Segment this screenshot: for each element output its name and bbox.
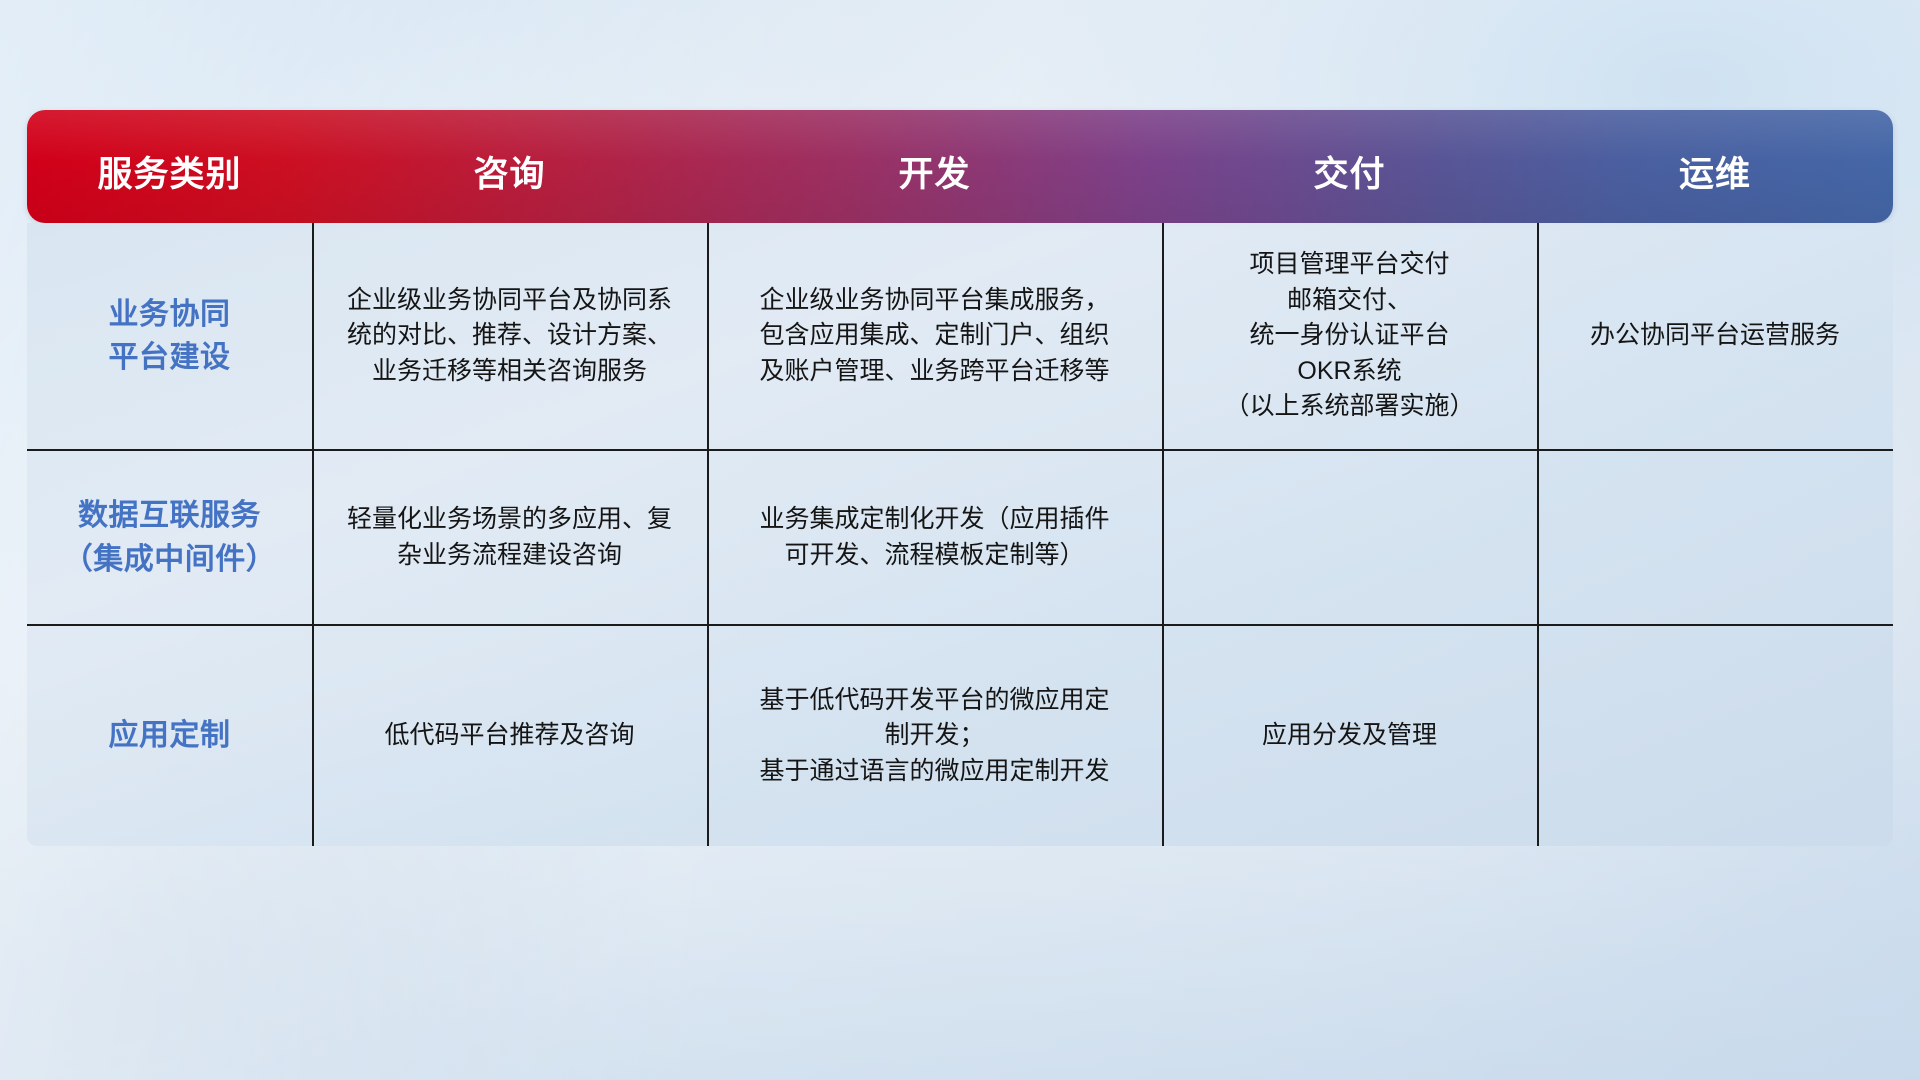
- column-header-consulting: 咨询: [312, 146, 707, 223]
- cell-delivery-row1: 项目管理平台交付 邮箱交付、 统一身份认证平台 OKR系统 （以上系统部署实施）: [1162, 223, 1537, 449]
- column-header-delivery: 交付: [1162, 146, 1537, 223]
- cell-operations-row1: 办公协同平台运营服务: [1537, 223, 1893, 449]
- cell-consulting-row2: 轻量化业务场景的多应用、复 杂业务流程建设咨询: [312, 451, 707, 624]
- table-row: 应用定制 低代码平台推荐及咨询 基于低代码开发平台的微应用定 制开发； 基于通过…: [27, 626, 1893, 846]
- cell-delivery-row2: [1162, 451, 1537, 624]
- cell-development-row2: 业务集成定制化开发（应用插件 可开发、流程模板定制等）: [707, 451, 1162, 624]
- cell-operations-row3: [1537, 626, 1893, 846]
- cell-consulting-row1: 企业级业务协同平台及协同系 统的对比、推荐、设计方案、 业务迁移等相关咨询服务: [312, 223, 707, 449]
- table-header-row: 服务类别 咨询 开发 交付 运维: [27, 110, 1893, 223]
- table-body: 业务协同 平台建设 企业级业务协同平台及协同系 统的对比、推荐、设计方案、 业务…: [27, 223, 1893, 846]
- cell-category-row3: 应用定制: [27, 626, 312, 846]
- cell-category-row1: 业务协同 平台建设: [27, 223, 312, 449]
- cell-development-row3: 基于低代码开发平台的微应用定 制开发； 基于通过语言的微应用定制开发: [707, 626, 1162, 846]
- table-row: 业务协同 平台建设 企业级业务协同平台及协同系 统的对比、推荐、设计方案、 业务…: [27, 223, 1893, 451]
- cell-development-row1: 企业级业务协同平台集成服务， 包含应用集成、定制门户、组织 及账户管理、业务跨平…: [707, 223, 1162, 449]
- column-header-operations: 运维: [1537, 146, 1893, 223]
- cell-operations-row2: [1537, 451, 1893, 624]
- column-header-development: 开发: [707, 146, 1162, 223]
- cell-delivery-row3: 应用分发及管理: [1162, 626, 1537, 846]
- column-header-category: 服务类别: [27, 146, 312, 223]
- table-row: 数据互联服务 （集成中间件） 轻量化业务场景的多应用、复 杂业务流程建设咨询 业…: [27, 451, 1893, 626]
- cell-consulting-row3: 低代码平台推荐及咨询: [312, 626, 707, 846]
- service-matrix-table: 服务类别 咨询 开发 交付 运维 业务协同 平台建设 企业级业务协同平台及协同系…: [27, 110, 1893, 950]
- cell-category-row2: 数据互联服务 （集成中间件）: [27, 451, 312, 624]
